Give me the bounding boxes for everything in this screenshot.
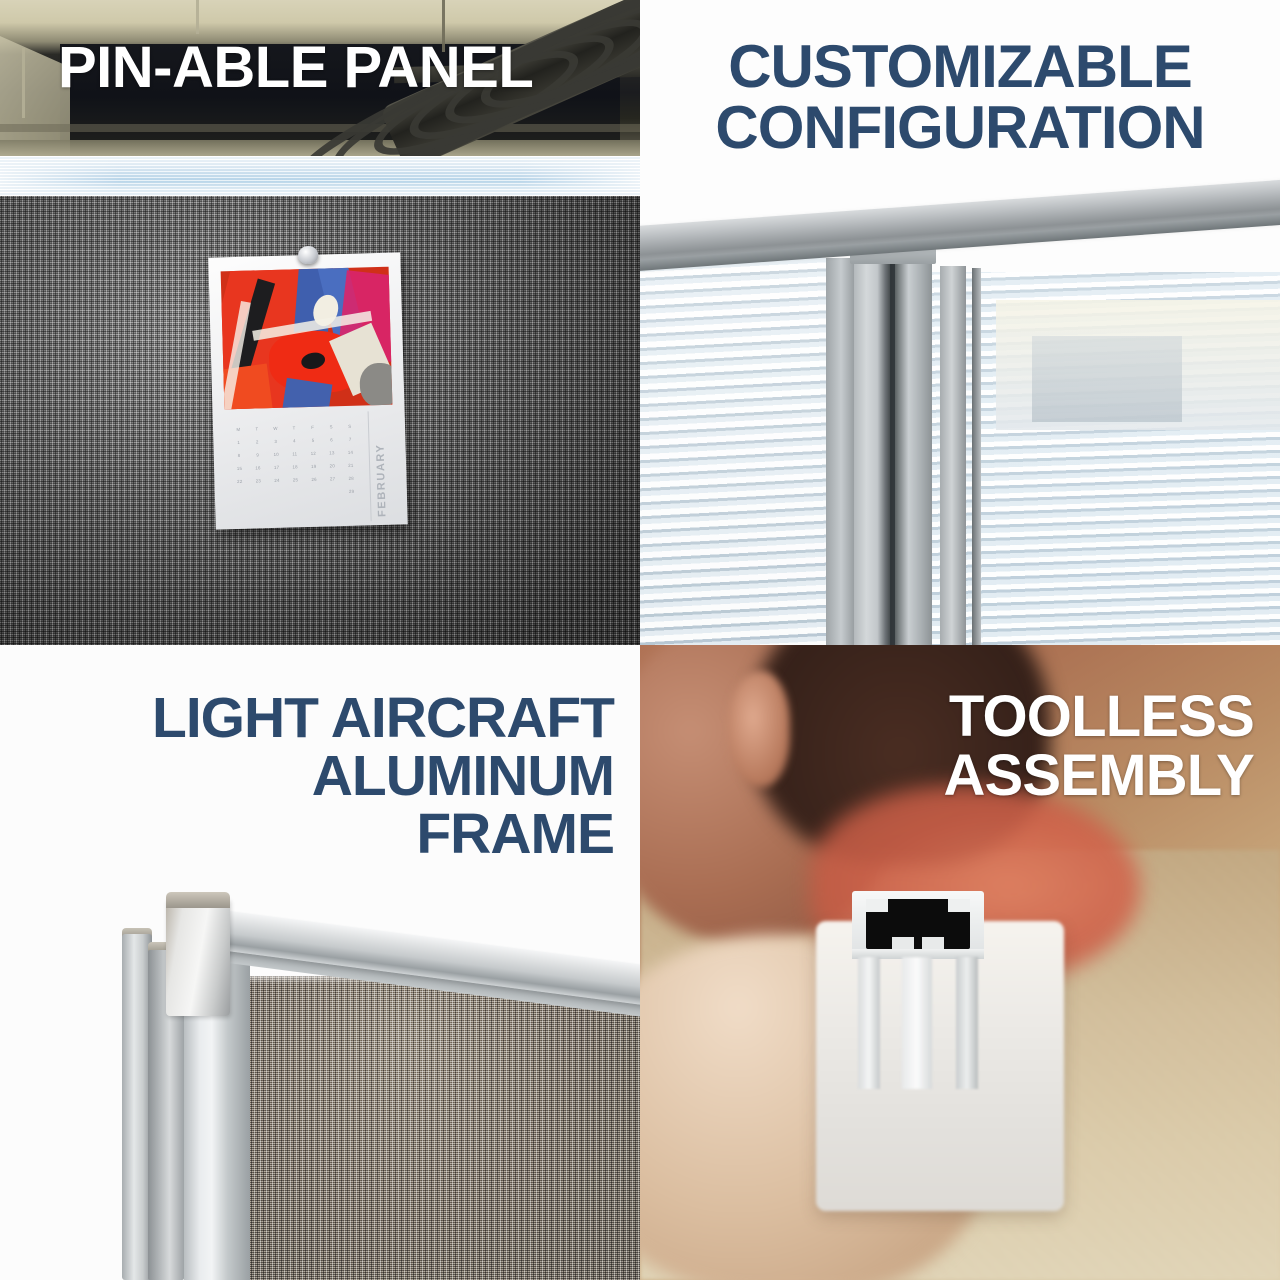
calendar-week-row: 29 (231, 485, 361, 502)
frame-post-secondary (940, 266, 966, 645)
extrusion-leg-left (858, 957, 880, 1089)
calendar-day: 16 (249, 461, 268, 475)
window-building (1032, 336, 1182, 422)
calendar-day: 15 (230, 462, 249, 476)
calendar-weekday: F (303, 421, 322, 435)
frame-corner-cap (166, 892, 230, 908)
caption-light-aircraft-aluminum-frame: LIGHT AIRCRAFT ALUMINUM FRAME (0, 689, 614, 863)
calendar-day (305, 486, 324, 500)
panel-light-aircraft-aluminum-frame: LIGHT AIRCRAFT ALUMINUM FRAME (0, 645, 640, 1280)
calendar-day (286, 486, 305, 500)
frame-post-left (826, 258, 856, 645)
calendar-day: 25 (286, 473, 305, 487)
calendar-day: 22 (230, 475, 249, 489)
calendar-divider (368, 411, 372, 521)
calendar-artwork (221, 267, 393, 410)
extrusion-leg-right (956, 957, 978, 1089)
extrusion-notch-left (866, 899, 888, 912)
calendar-day (231, 488, 250, 502)
frame-post-seam (890, 254, 895, 645)
pinned-calendar-sheet: M T W T F S S 1 2 3 4 5 6 7 (208, 252, 408, 529)
aluminum-frame-assembly (130, 890, 640, 1280)
caption-toolless-assembly: TOOLLESS ASSEMBLY (640, 687, 1254, 805)
aluminum-channel-extrusion (852, 891, 984, 1091)
calendar-day: 1 (229, 436, 248, 450)
ceiling-rod (22, 48, 25, 118)
calendar-day: 3 (266, 435, 285, 449)
caption-pin-able-panel: PIN-ABLE PANEL (58, 38, 533, 97)
panel-pin-able-panel: M T W T F S S 1 2 3 4 5 6 7 (0, 0, 640, 645)
calendar-day: 27 (323, 472, 342, 486)
calendar-day: 10 (267, 448, 286, 462)
frame-panel-edge (972, 268, 981, 645)
panel-customizable-configuration: CUSTOMIZABLE CONFIGURATION (640, 0, 1280, 645)
caption-customizable-configuration: CUSTOMIZABLE CONFIGURATION (640, 36, 1280, 158)
extrusion-leg-center (902, 957, 932, 1089)
calendar-day: 19 (304, 460, 323, 474)
calendar-day (268, 487, 287, 501)
calendar-day: 13 (322, 446, 341, 460)
calendar-day: 9 (248, 448, 267, 462)
extrusion-notch-right (948, 899, 970, 912)
calendar-day: 17 (267, 461, 286, 475)
calendar-day: 7 (341, 433, 360, 447)
calendar-weekday: M (229, 423, 248, 437)
calendar-day: 20 (323, 459, 342, 473)
calendar-day: 29 (342, 485, 361, 499)
frame-fabric-panel (250, 976, 640, 1280)
calendar-day (249, 487, 268, 501)
frame-corner-joint (166, 898, 230, 1016)
calendar-weekday: W (266, 422, 285, 436)
ceiling-rod (196, 0, 199, 34)
calendar-day: 8 (230, 449, 249, 463)
calendar-day: 18 (286, 460, 305, 474)
calendar-day: 2 (248, 435, 267, 449)
panel-toolless-assembly: TOOLLESS ASSEMBLY (640, 645, 1280, 1280)
calendar-day: 6 (322, 433, 341, 447)
calendar-day: 11 (285, 447, 304, 461)
calendar-day: 24 (267, 474, 286, 488)
calendar-weekday: S (322, 420, 341, 434)
calendar-weekday: T (247, 422, 266, 436)
calendar-day: 5 (304, 434, 323, 448)
calendar-day: 12 (304, 447, 323, 461)
calendar-grid: M T W T F S S 1 2 3 4 5 6 7 (229, 420, 361, 508)
calendar-weekday: T (285, 421, 304, 435)
calendar-day (324, 485, 343, 499)
panel-top-rail-highlight (0, 156, 640, 198)
calendar-month-label: FEBRUARY (374, 413, 401, 518)
calendar-day: 28 (342, 472, 361, 486)
calendar-day: 4 (285, 434, 304, 448)
calendar-day: 14 (341, 446, 360, 460)
calendar-day: 21 (341, 459, 360, 473)
calendar-weekday: S (340, 420, 359, 434)
calendar-day: 26 (305, 473, 324, 487)
calendar-day: 23 (249, 474, 268, 488)
feature-collage: M T W T F S S 1 2 3 4 5 6 7 (0, 0, 1280, 1280)
push-pin-icon (298, 246, 318, 265)
